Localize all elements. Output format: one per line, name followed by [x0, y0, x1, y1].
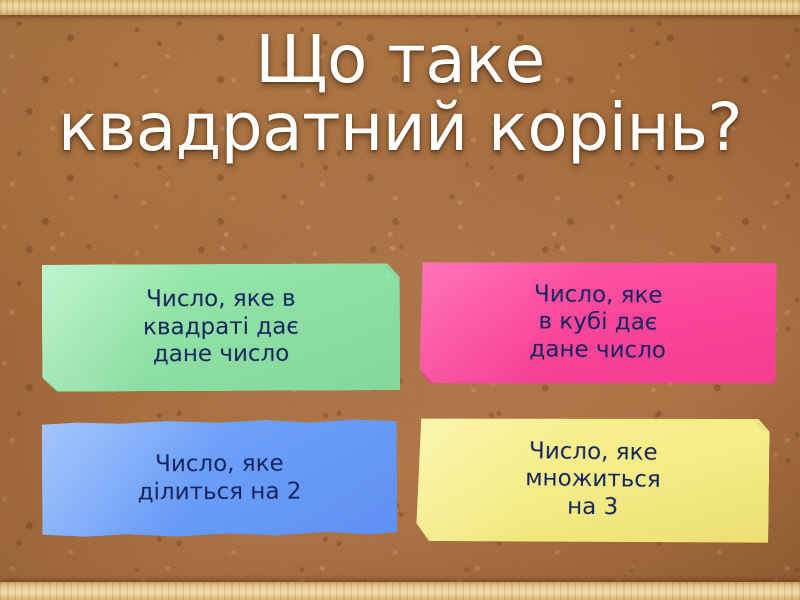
answer-label-green: Число, яке в квадраті дає дане число: [129, 286, 313, 370]
answer-label-pink: Число, яке в кубі дає дане число: [515, 281, 680, 365]
answer-label-blue: Число, яке ділиться на 2: [123, 450, 315, 506]
answer-card-pink[interactable]: Число, яке в кубі дає дане число: [419, 259, 776, 387]
wooden-frame-bottom: [0, 582, 800, 600]
quiz-stage: Що таке квадратний корінь? Число, яке в …: [0, 0, 800, 600]
answer-card-green[interactable]: Число, яке в квадраті дає дане число: [42, 263, 401, 392]
answer-label-yellow: Число, яке множиться на 3: [511, 438, 676, 523]
answer-card-blue[interactable]: Число, яке ділиться на 2: [42, 418, 398, 539]
answer-card-yellow[interactable]: Число, яке множиться на 3: [416, 415, 770, 545]
wooden-frame-top: [0, 0, 800, 15]
question-title: Що таке квадратний корінь?: [0, 26, 800, 162]
